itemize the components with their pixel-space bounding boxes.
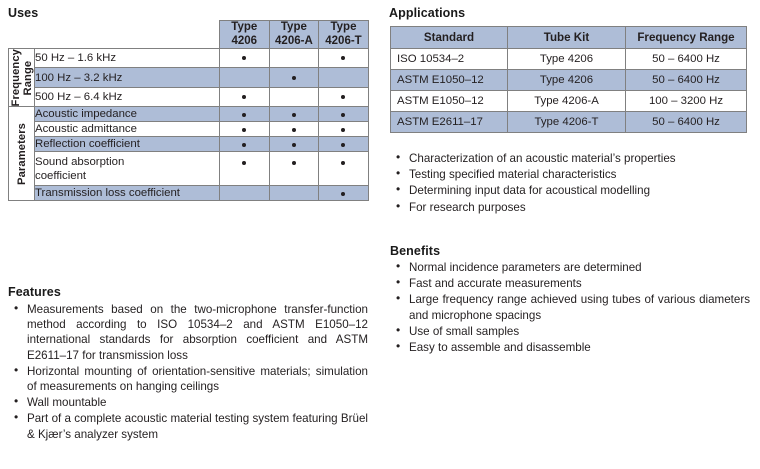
table-header-row: StandardTube KitFrequency Range [391,27,747,49]
row-group-label-text: Parameters [16,123,28,185]
cell-support-type-3 [319,107,369,122]
list-item: Testing specified material characteristi… [392,167,750,182]
features-bullet-list: Measurements based on the two-microphone… [10,302,368,443]
list-item: Part of a complete acoustic material tes… [10,411,368,441]
row-label: Acoustic impedance [35,107,220,122]
table-row: ASTM E1050–12Type 420650 – 6400 Hz [391,70,747,91]
table-row: 100 Hz – 3.2 kHz [9,68,369,87]
availability-dot-icon [341,95,345,99]
availability-dot-icon [292,161,296,165]
cell-standard: ASTM E1050–12 [391,91,508,112]
applications-table: StandardTube KitFrequency Range ISO 1053… [390,26,747,133]
list-item: Horizontal mounting of orientation-sensi… [10,364,368,394]
cell-standard: ASTM E2611–17 [391,112,508,133]
cell-support-type-3 [319,68,369,87]
row-group-label-1: Frequency Range [9,49,35,107]
cell-frequency-range: 50 – 6400 Hz [626,112,747,133]
row-label: 500 Hz – 6.4 kHz [35,87,220,107]
applications-table-container: StandardTube KitFrequency Range ISO 1053… [390,26,747,133]
list-item: Characterization of an acoustic material… [392,151,750,166]
cell-frequency-range: 50 – 6400 Hz [626,70,747,91]
cell-support-type-1 [220,122,270,137]
cell-support-type-3 [319,49,369,68]
uses-section-title: Uses [8,6,38,20]
table-row: Acoustic admittance [9,122,369,137]
availability-dot-icon [242,161,246,165]
cell-tube-kit: Type 4206 [508,49,626,70]
cell-support-type-1 [220,87,270,107]
cell-support-type-2 [269,87,319,107]
column-header-type-3: Type 4206-T [319,21,369,49]
list-item: Measurements based on the two-microphone… [10,302,368,363]
row-label: Reflection coefficient [35,137,220,152]
cell-standard: ISO 10534–2 [391,49,508,70]
table-row: ASTM E2611–17Type 4206-T50 – 6400 Hz [391,112,747,133]
cell-support-type-3 [319,122,369,137]
list-item: Easy to assemble and disassemble [392,340,750,355]
cell-support-type-3 [319,152,369,186]
cell-tube-kit: Type 4206-A [508,91,626,112]
column-header-1: Standard [391,27,508,49]
cell-support-type-1 [220,68,270,87]
table-row: 500 Hz – 6.4 kHz [9,87,369,107]
cell-support-type-2 [269,186,319,201]
cell-support-type-1 [220,49,270,68]
datasheet-page: Uses Type 4206Type 4206-AType 4206-TFreq… [0,0,760,469]
availability-dot-icon [292,128,296,132]
availability-dot-icon [341,143,345,147]
table-header-row: Type 4206Type 4206-AType 4206-T [9,21,369,49]
cell-support-type-1 [220,107,270,122]
cell-support-type-1 [220,152,270,186]
features-section-title: Features [8,285,61,299]
availability-dot-icon [341,113,345,117]
row-label: Sound absorption coefficient [35,152,220,186]
cell-frequency-range: 100 – 3200 Hz [626,91,747,112]
benefits-bullet-list: Normal incidence parameters are determin… [392,260,750,356]
column-header-2: Tube Kit [508,27,626,49]
cell-support-type-3 [319,137,369,152]
availability-dot-icon [341,161,345,165]
availability-dot-icon [242,95,246,99]
cell-support-type-2 [269,137,319,152]
column-header-type-1: Type 4206 [220,21,270,49]
row-label: Acoustic admittance [35,122,220,137]
applications-bullet-list: Characterization of an acoustic material… [392,151,750,216]
table-row: ISO 10534–2Type 420650 – 6400 Hz [391,49,747,70]
cell-support-type-3 [319,186,369,201]
header-spacer [9,21,220,49]
table-row: Reflection coefficient [9,137,369,152]
column-header-3: Frequency Range [626,27,747,49]
cell-support-type-1 [220,137,270,152]
cell-tube-kit: Type 4206-T [508,112,626,133]
cell-support-type-2 [269,152,319,186]
applications-section-title: Applications [389,6,465,20]
list-item: Use of small samples [392,324,750,339]
cell-support-type-2 [269,107,319,122]
uses-table: Type 4206Type 4206-AType 4206-TFrequency… [8,20,369,201]
table-row: Transmission loss coefficient [9,186,369,201]
table-row: Frequency Range50 Hz – 1.6 kHz [9,49,369,68]
uses-table-container: Type 4206Type 4206-AType 4206-TFrequency… [8,20,368,201]
cell-support-type-2 [269,68,319,87]
table-row: ParametersAcoustic impedance [9,107,369,122]
column-header-type-2: Type 4206-A [269,21,319,49]
benefits-section-title: Benefits [390,244,440,258]
availability-dot-icon [341,56,345,60]
availability-dot-icon [292,76,296,80]
list-item: Normal incidence parameters are determin… [392,260,750,275]
availability-dot-icon [292,113,296,117]
availability-dot-icon [242,56,246,60]
availability-dot-icon [341,128,345,132]
list-item: Wall mountable [10,395,368,410]
list-item: For research purposes [392,200,750,215]
cell-tube-kit: Type 4206 [508,70,626,91]
list-item: Determining input data for acoustical mo… [392,183,750,198]
table-row: ASTM E1050–12Type 4206-A100 – 3200 Hz [391,91,747,112]
cell-support-type-3 [319,87,369,107]
row-label: 100 Hz – 3.2 kHz [35,68,220,87]
availability-dot-icon [242,128,246,132]
availability-dot-icon [292,143,296,147]
row-label: 50 Hz – 1.6 kHz [35,49,220,68]
list-item: Fast and accurate measurements [392,276,750,291]
availability-dot-icon [242,143,246,147]
row-label: Transmission loss coefficient [35,186,220,201]
row-group-label-text: Frequency Range [10,49,34,106]
list-item: Large frequency range achieved using tub… [392,292,750,322]
cell-support-type-2 [269,122,319,137]
availability-dot-icon [341,192,345,196]
cell-standard: ASTM E1050–12 [391,70,508,91]
availability-dot-icon [242,113,246,117]
row-group-label-2: Parameters [9,107,35,201]
table-row: Sound absorption coefficient [9,152,369,186]
cell-support-type-2 [269,49,319,68]
cell-frequency-range: 50 – 6400 Hz [626,49,747,70]
cell-support-type-1 [220,186,270,201]
